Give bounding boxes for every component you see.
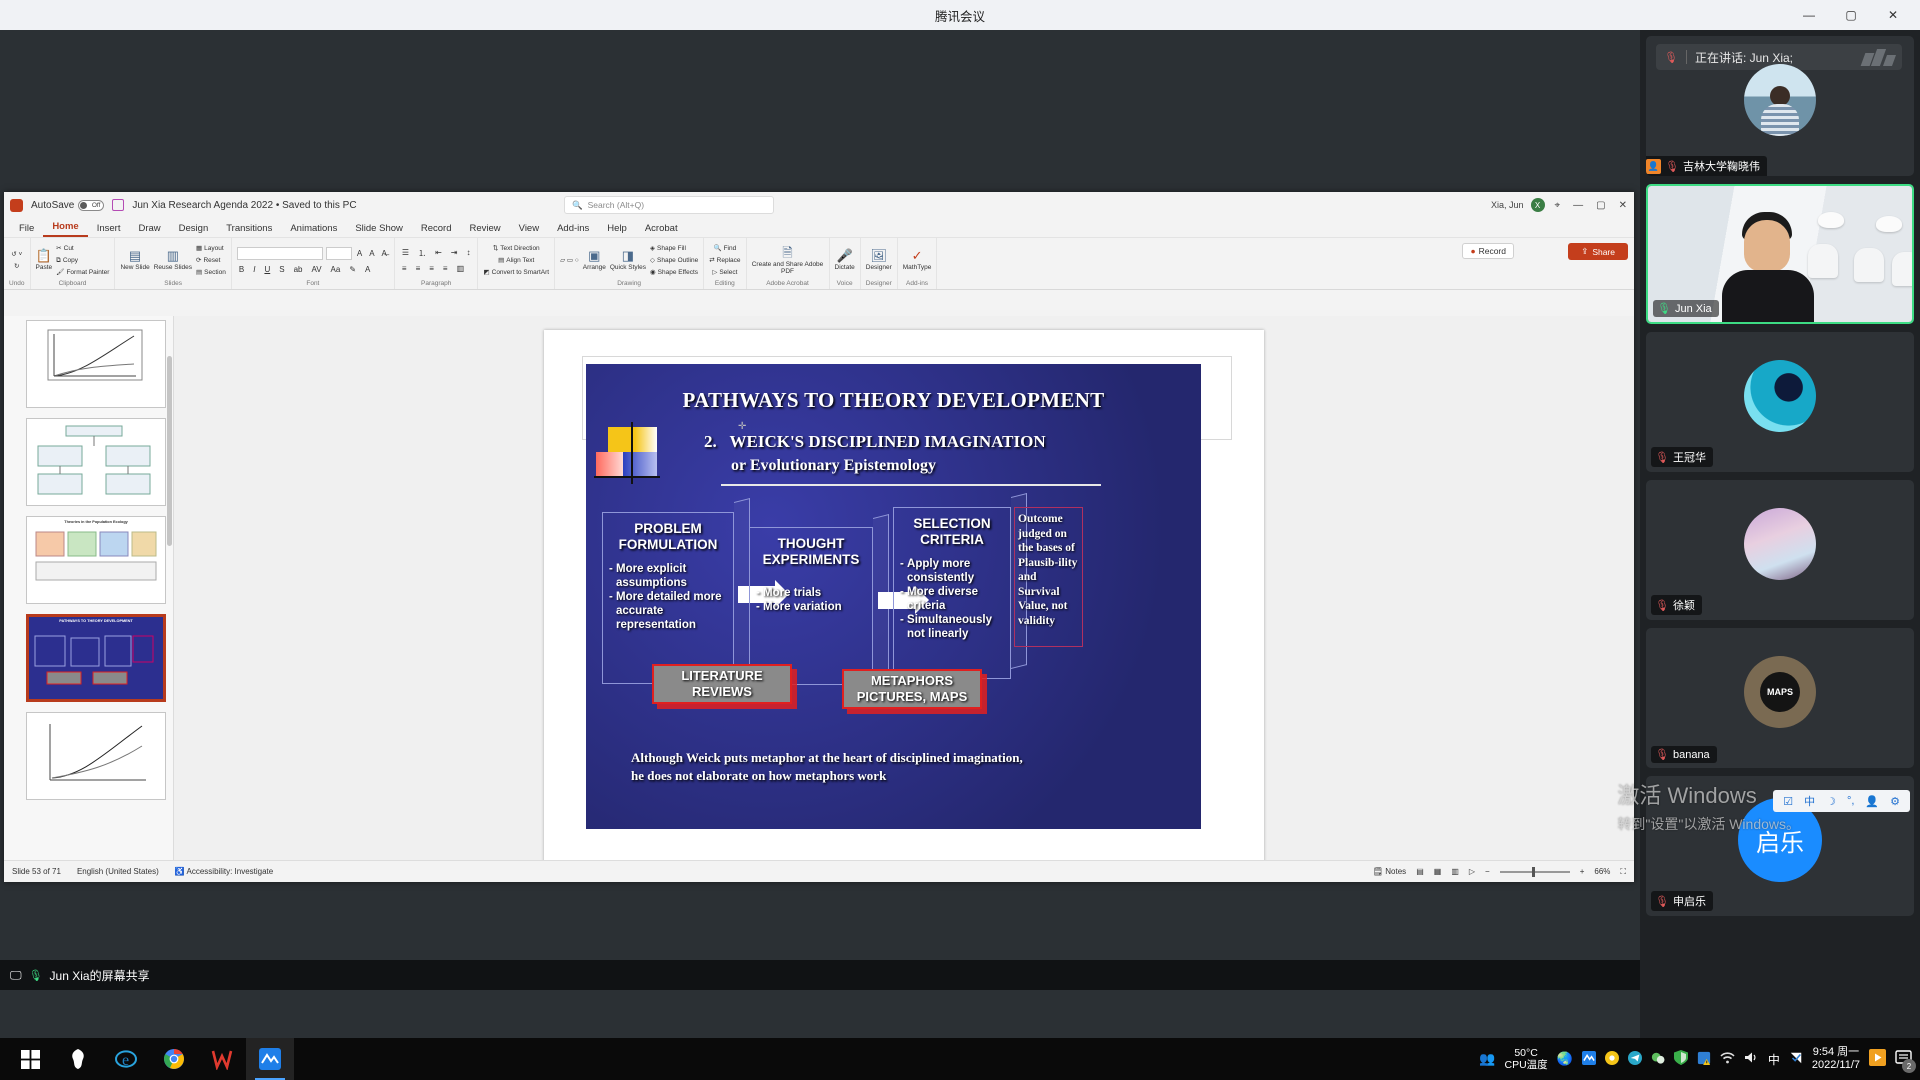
tencent-meeting-window: 腾讯会议 — ▢ ✕ AutoSave Off Jun Xia Research… <box>0 0 1920 1080</box>
bold-button[interactable]: B <box>237 265 246 274</box>
ribbon-group-label: Clipboard <box>59 280 87 288</box>
ribbon-group-paragraph-extra: ⇅ Text Direction ▤ Align Text ◩ Convert … <box>478 238 555 289</box>
align-center-button[interactable]: ≡ <box>414 264 423 273</box>
autosave-switch-icon[interactable]: Off <box>78 200 104 211</box>
decrease-font-size-button[interactable]: A <box>367 249 376 258</box>
volume-icon[interactable] <box>1744 1051 1759 1067</box>
slide-counter[interactable]: Slide 53 of 71 <box>12 867 61 876</box>
thumbnail-preview: PATHWAYS TO THEORY DEVELOPMENT <box>29 617 163 699</box>
arrange-label: Arrange <box>583 264 606 271</box>
powerpoint-logo-icon <box>10 199 23 212</box>
box-bullet-list: - Apply more consistently - More diverse… <box>898 557 1010 641</box>
reset-label: Reset <box>203 255 220 266</box>
lamp-icon <box>1876 216 1902 232</box>
ribbon-group-drawing: ▱ ▭ ○ ▣ Arrange ◨ Quick Styles ◈ Shape F… <box>555 238 704 289</box>
clear-formatting-button[interactable]: A̶ <box>380 249 389 258</box>
ppt-restore-button[interactable]: ▢ <box>1593 200 1608 211</box>
box-heading: SELECTION CRITERIA <box>894 516 1010 548</box>
ime-chinese-indicator[interactable]: 中 <box>1768 1051 1780 1068</box>
align-right-button[interactable]: ≡ <box>427 264 436 273</box>
process-box-selection-criteria: SELECTION CRITERIA - Apply more consiste… <box>893 507 1011 679</box>
zoom-in-button[interactable]: + <box>1580 867 1585 876</box>
decorative-square-blue <box>623 452 657 477</box>
screen-share-label: Jun Xia的屏幕共享 <box>50 967 150 984</box>
ribbon-group-label <box>515 280 517 288</box>
tab-add-ins[interactable]: Add-ins <box>548 221 598 237</box>
bullet-text: More detailed more accurate representati… <box>616 591 721 631</box>
reuse-slides-icon: ▥ <box>167 249 179 263</box>
save-icon[interactable] <box>112 199 124 211</box>
view-slide-sorter-button[interactable]: ▦ <box>1434 867 1442 876</box>
zoom-level[interactable]: 66% <box>1594 867 1610 876</box>
earth-browser-icon[interactable]: 🌏 <box>1557 1051 1573 1067</box>
tab-animations[interactable]: Animations <box>281 221 346 237</box>
tencent-meeting-tray-icon[interactable] <box>1582 1051 1596 1068</box>
record-button[interactable]: ● Record <box>1462 243 1514 259</box>
close-button[interactable]: ✕ <box>1872 0 1914 30</box>
new-slide-label: New Slide <box>120 264 149 271</box>
slide-canvas[interactable]: PATHWAYS TO THEORY DEVELOPMENT ✛ 2. WEIC… <box>174 316 1634 860</box>
view-slideshow-button[interactable]: ▷ <box>1469 867 1475 876</box>
tab-home[interactable]: Home <box>43 219 87 237</box>
process-box-thought-experiments: THOUGHT EXPERIMENTS - More trials - More… <box>749 527 873 685</box>
autosave-label: AutoSave <box>31 200 74 211</box>
box-heading-line2: CRITERIA <box>920 532 984 547</box>
section-button[interactable]: ▤ Section <box>196 267 226 278</box>
process-box-problem-formulation: PROBLEM FORMULATION - More explicit assu… <box>602 512 734 684</box>
avatar[interactable]: X <box>1531 198 1545 212</box>
search-box[interactable]: 🔍 Search (Alt+Q) <box>564 196 774 214</box>
clipboard-icon: 📋 <box>36 249 52 263</box>
ime-settings-gear-icon[interactable]: ⚙ <box>1890 795 1900 808</box>
microphone-muted-icon: 🎙 <box>1664 51 1678 64</box>
designer-label: Designer <box>866 264 892 271</box>
participant-name-badge: 👤 🎙 吉林大学鞠晓伟 <box>1646 156 1767 176</box>
slide-page[interactable]: PATHWAYS TO THEORY DEVELOPMENT ✛ 2. WEIC… <box>544 330 1264 870</box>
notes-label: Notes <box>1385 867 1406 876</box>
reuse-slides-label: Reuse Slides <box>154 264 192 271</box>
section-label: Section <box>204 267 226 278</box>
powerpoint-window: AutoSave Off Jun Xia Research Agenda 202… <box>4 192 1634 882</box>
zoom-out-button[interactable]: − <box>1485 867 1490 876</box>
thumbnail-preview <box>27 419 165 505</box>
participant-name: 吉林大学鞠晓伟 <box>1683 158 1760 174</box>
person-body <box>1722 270 1814 324</box>
text-direction-button[interactable]: ⇅ Text Direction <box>493 243 540 254</box>
windows-defender-icon[interactable] <box>1789 1051 1803 1068</box>
microphone-icon: 🎤 <box>837 249 853 263</box>
minimize-button[interactable]: — <box>1788 0 1830 30</box>
dictate-label: Dictate <box>835 264 855 271</box>
start-button[interactable] <box>6 1038 54 1080</box>
bullet-text: More trials <box>763 587 821 599</box>
avatar <box>1744 64 1816 136</box>
bullet-text: More diverse criteria <box>907 586 978 612</box>
designer-icon: 🖼 <box>871 249 888 263</box>
ribbon-group-label: Slides <box>164 280 182 288</box>
lamp-icon <box>1818 212 1844 228</box>
box-heading-line1: SELECTION <box>913 516 990 531</box>
replace-button[interactable]: ⇄ Replace <box>709 255 740 266</box>
search-icon: 🔍 <box>572 200 583 211</box>
tab-insert[interactable]: Insert <box>88 221 130 237</box>
cut-label: Cut <box>64 243 74 254</box>
cut-button[interactable]: ✂ Cut <box>56 243 109 254</box>
align-text-button[interactable]: ▤ Align Text <box>498 255 534 266</box>
arrange-icon: ▣ <box>588 249 600 263</box>
reuse-slides-button[interactable]: ▥ Reuse Slides <box>154 249 192 271</box>
shape-fill-label: Shape Fill <box>657 243 686 254</box>
mathtype-icon: ✓ <box>912 249 923 263</box>
person-head <box>1744 220 1790 272</box>
status-bar-right: 🗒 Notes ▤ ▦ ▥ ▷ − + 66% ⛶ <box>1373 867 1626 877</box>
quick-styles-button[interactable]: ◨ Quick Styles <box>610 249 646 271</box>
taskbar-app-wps-office[interactable] <box>198 1038 246 1080</box>
pdf-icon: 🗎 <box>782 246 792 260</box>
reset-button[interactable]: ⟳ Reset <box>196 255 226 266</box>
bullets-button[interactable]: ☰ <box>400 248 411 259</box>
tab-file[interactable]: File <box>10 221 43 237</box>
shape-effects-button[interactable]: ◉ Shape Effects <box>650 267 698 278</box>
participant-tile-wang-guanhua[interactable]: 🎙 王冠华 <box>1646 332 1914 472</box>
participant-tile-jun-xia[interactable]: 🎙 Jun Xia <box>1646 184 1914 324</box>
align-text-label: Align Text <box>506 255 534 266</box>
notification-count: 2 <box>1902 1059 1916 1073</box>
document-title[interactable]: Jun Xia Research Agenda 2022 • Saved to … <box>132 200 356 211</box>
taskbar-clock[interactable]: 9:54 周一 2022/11/7 <box>1812 1046 1860 1072</box>
view-normal-button[interactable]: ▤ <box>1416 867 1424 876</box>
search-placeholder: Search (Alt+Q) <box>588 200 644 210</box>
taskbar-app-internet-explorer[interactable]: e <box>102 1038 150 1080</box>
warning-icon[interactable] <box>1697 1051 1711 1068</box>
accessibility-icon: ♿ <box>175 867 185 876</box>
microphone-muted-icon: 🎙 <box>1665 160 1679 173</box>
cpu-temperature-widget[interactable]: 50°C CPU温度 <box>1505 1047 1548 1071</box>
find-label: Find <box>724 243 737 254</box>
microphone-muted-icon: 🎙 <box>1655 451 1669 464</box>
taskbar-app-google-chrome[interactable] <box>150 1038 198 1080</box>
list-item[interactable]: 53 PATHWAYS TO THEORY DEVELOPMENT <box>26 614 166 702</box>
slide-subtitle-line1: 2. WEICK'S DISCIPLINED IMAGINATION <box>704 432 1046 452</box>
participant-name: Jun Xia <box>1675 303 1712 315</box>
format-painter-button[interactable]: 🖌 Format Painter <box>56 267 109 278</box>
decorative-square-yellow-fade <box>635 427 657 453</box>
ribbon-group-label: Designer <box>866 280 892 288</box>
numbering-button[interactable]: ⒈ <box>416 248 428 259</box>
create-share-pdf-button[interactable]: 🗎 Create and Share Adobe PDF <box>752 246 824 275</box>
tab-design[interactable]: Design <box>170 221 218 237</box>
participant-name: 徐颖 <box>1673 597 1695 613</box>
ribbon-display-options-icon[interactable]: ⌖ <box>1552 200 1564 211</box>
ime-logo-icon[interactable]: ☑ <box>1783 795 1793 808</box>
participant-tile-banana[interactable]: 🎙 banana <box>1646 628 1914 768</box>
decrease-indent-button[interactable]: ⇤ <box>433 248 444 259</box>
screen-share-icon: 🖵 <box>10 968 22 983</box>
taskbar-apps: e <box>0 1038 294 1080</box>
list-item[interactable]: 51 <box>26 418 166 506</box>
font-name-input[interactable] <box>237 247 323 260</box>
ribbon: ↺ ˅ ↻ Undo 📋 Paste ✂ Cut ⧉ Copy <box>4 238 1634 290</box>
shape-outline-label: Shape Outline <box>657 255 698 266</box>
ime-toolbar[interactable]: ☑ 中 ☽ °, 👤 ⚙ <box>1773 790 1910 812</box>
avatar <box>1744 656 1816 728</box>
increase-font-size-button[interactable]: A <box>355 249 364 258</box>
svg-text:e: e <box>122 1052 129 1069</box>
telegram-icon[interactable] <box>1628 1051 1642 1068</box>
360-shield-icon[interactable] <box>1605 1051 1619 1068</box>
list-item: - More trials <box>754 586 872 600</box>
ribbon-group-label: Undo <box>9 280 25 288</box>
text-shadow-button[interactable]: S <box>277 265 286 274</box>
taskbar-app-sogou-browser[interactable] <box>54 1038 102 1080</box>
redo-button[interactable]: ↻ <box>14 261 19 272</box>
share-label: Share <box>1592 247 1615 257</box>
ribbon-group-voice: 🎤 Dictate Voice <box>830 238 861 289</box>
host-icon: 👤 <box>1646 159 1661 174</box>
microphone-on-icon: 🎙 <box>1657 302 1671 315</box>
autosave-state: Off <box>92 202 101 209</box>
copy-label: Copy <box>63 255 78 266</box>
ribbon-group-clipboard: 📋 Paste ✂ Cut ⧉ Copy 🖌 Format Painter Cl… <box>31 238 116 289</box>
layout-label: Layout <box>204 243 224 254</box>
wechat-icon[interactable] <box>1651 1051 1665 1068</box>
ribbon-group-label: Adobe Acrobat <box>766 280 809 288</box>
participant-tile-xu-ying[interactable]: 🎙 徐颖 <box>1646 480 1914 620</box>
share-button[interactable]: ⇪ Share <box>1568 243 1628 260</box>
undo-button[interactable]: ↺ ˅ <box>11 249 22 260</box>
box-bullet-list: - More explicit assumptions - More detai… <box>607 562 733 632</box>
participant-tile-host[interactable]: 🎙 正在讲话: Jun Xia; 👤 🎙 吉林大学鞠晓伟 <box>1646 36 1914 176</box>
bullet-text: More explicit assumptions <box>616 563 687 589</box>
box-heading: THOUGHT EXPERIMENTS <box>750 536 872 568</box>
account-name[interactable]: Xia, Jun <box>1491 200 1524 210</box>
list-item: - Simultaneously not linearly <box>898 613 1010 641</box>
columns-button[interactable]: ▥ <box>455 264 467 273</box>
ribbon-group-label: Voice <box>837 280 853 288</box>
decorative-line-vertical <box>631 422 633 484</box>
microphone-muted-icon: 🎙 <box>1655 895 1669 908</box>
callout-metaphors: METAPHORS PICTURES, MAPS <box>842 669 982 709</box>
ribbon-group-editing: 🔍 Find ⇄ Replace ▷ Select Editing <box>704 238 746 289</box>
tab-transitions[interactable]: Transitions <box>217 221 281 237</box>
list-item: - More variation <box>754 600 872 614</box>
security-shield-icon[interactable] <box>1674 1050 1688 1068</box>
text-highlight-button[interactable]: ✎ <box>347 265 358 274</box>
strikethrough-button[interactable]: ab <box>292 265 305 274</box>
tab-acrobat[interactable]: Acrobat <box>636 221 687 237</box>
screen-share-status-strip: 🖵 🎙 Jun Xia的屏幕共享 <box>0 960 1640 990</box>
box-heading: PROBLEM FORMULATION <box>603 521 733 553</box>
ribbon-group-designer: 🖼 Designer Designer <box>861 238 898 289</box>
ribbon-group-label: Paragraph <box>421 280 451 288</box>
chair-icon <box>1892 252 1914 286</box>
shape-gallery[interactable]: ▱ ▭ ○ <box>560 255 579 266</box>
quick-styles-icon: ◨ <box>622 249 634 263</box>
meet-now-people-icon[interactable]: 👥 <box>1479 1051 1495 1067</box>
list-item[interactable]: 54 <box>26 712 166 800</box>
activation-line2: 转到"设置"以激活 Windows。 <box>1617 814 1800 834</box>
participant-sidebar[interactable]: 🎙 正在讲话: Jun Xia; 👤 🎙 吉林大学鞠晓伟 <box>1640 30 1920 1080</box>
meeting-app-title: 腾讯会议 <box>935 6 985 25</box>
ime-moon-icon[interactable]: ☽ <box>1826 795 1836 808</box>
thumbnail-preview <box>27 713 165 799</box>
participant-name: 申启乐 <box>1673 893 1706 909</box>
titlebar-right-controls: Xia, Jun X ⌖ — ▢ ✕ <box>1491 192 1630 218</box>
replace-label: Replace <box>717 255 741 266</box>
new-slide-icon: ▤ <box>129 249 141 263</box>
participant-name-badge: 🎙 申启乐 <box>1651 891 1713 911</box>
ppt-close-button[interactable]: ✕ <box>1616 200 1630 211</box>
tab-record[interactable]: Record <box>412 221 461 237</box>
media-player-icon[interactable] <box>1869 1049 1886 1069</box>
tab-help[interactable]: Help <box>598 221 636 237</box>
italic-button[interactable]: I <box>251 265 257 274</box>
copy-button[interactable]: ⧉ Copy <box>56 255 109 266</box>
powerpoint-body: 50 <box>4 316 1634 860</box>
view-reading-button[interactable]: ▥ <box>1451 867 1459 876</box>
notification-center-button[interactable]: 2 <box>1895 1049 1912 1069</box>
active-speaker-text: 正在讲话: Jun Xia; <box>1695 49 1793 66</box>
ribbon-group-label: Add-ins <box>906 280 928 288</box>
thumbnail-scrollbar[interactable] <box>167 356 172 546</box>
mouse-cursor-icon: ✛ <box>738 421 746 432</box>
increase-indent-button[interactable]: ⇥ <box>449 248 460 259</box>
powerpoint-status-bar: Slide 53 of 71 English (United States) ♿… <box>4 860 1634 882</box>
ribbon-group-slides: ▤ New Slide ▥ Reuse Slides ▦ Layout ⟳ Re… <box>115 238 231 289</box>
box-heading-line1: THOUGHT <box>778 536 845 551</box>
create-share-pdf-label: Create and Share Adobe PDF <box>752 261 824 275</box>
microphone-muted-icon: 🎙 <box>1655 599 1669 612</box>
tab-draw[interactable]: Draw <box>129 221 169 237</box>
box-heading-line2: EXPERIMENTS <box>763 552 860 567</box>
layout-switch-icon[interactable] <box>1863 49 1894 66</box>
list-item[interactable]: 50 <box>26 320 166 408</box>
ribbon-group-label: Editing <box>715 280 735 288</box>
footer-line1: Although Weick puts metaphor at the hear… <box>631 750 1023 765</box>
decorative-line-horizontal <box>594 476 660 478</box>
maximize-button[interactable]: ▢ <box>1830 0 1872 30</box>
ribbon-group-font: A A A̶ B I U S ab AV Aa ✎ <box>232 238 395 289</box>
ime-user-icon[interactable]: 👤 <box>1865 795 1879 808</box>
clock-time: 9:54 周一 <box>1812 1046 1860 1059</box>
line-spacing-button[interactable]: ↕ <box>464 248 472 259</box>
dictate-button[interactable]: 🎤 Dictate <box>835 249 855 271</box>
shape-outline-button[interactable]: ◇ Shape Outline <box>650 255 698 266</box>
box-heading-line1: PROBLEM <box>634 521 702 536</box>
smartart-label: Convert to SmartArt <box>492 267 549 278</box>
zoom-slider[interactable] <box>1500 871 1570 873</box>
shape-fill-button[interactable]: ◈ Shape Fill <box>650 243 698 254</box>
list-item: - More explicit assumptions <box>607 562 733 590</box>
bullet-text: Apply more consistently <box>907 558 974 584</box>
justify-button[interactable]: ≡ <box>441 264 450 273</box>
cpu-temp-label: CPU温度 <box>1505 1059 1548 1071</box>
bullet-text: More variation <box>763 601 842 613</box>
slide-footer-text: Although Weick puts metaphor at the hear… <box>631 749 1161 785</box>
ribbon-group-undo: ↺ ˅ ↻ Undo <box>4 238 31 289</box>
find-button[interactable]: 🔍 Find <box>713 243 736 254</box>
ime-chinese-mode-icon[interactable]: 中 <box>1804 793 1815 809</box>
tab-view[interactable]: View <box>510 221 548 237</box>
mathtype-button[interactable]: ✓ MathType <box>903 249 932 271</box>
ribbon-tabs: File Home Insert Draw Design Transitions… <box>4 218 1634 238</box>
accessibility-indicator[interactable]: ♿ Accessibility: Investigate <box>175 867 273 876</box>
tab-review[interactable]: Review <box>461 221 510 237</box>
layout-button[interactable]: ▦ Layout <box>196 243 226 254</box>
paste-button[interactable]: 📋 Paste <box>36 249 53 271</box>
paste-label: Paste <box>36 264 53 271</box>
participant-name-badge: 🎙 Jun Xia <box>1653 300 1719 317</box>
windows-taskbar: e 👥 50°C <box>0 1038 1920 1080</box>
thumbnail-preview: Theories in the Population Ecology <box>27 517 165 603</box>
shared-screen-area: AutoSave Off Jun Xia Research Agenda 202… <box>0 30 1640 1020</box>
participant-name-badge: 🎙 徐颖 <box>1651 595 1702 615</box>
ribbon-group-adobe-acrobat: 🗎 Create and Share Adobe PDF Adobe Acrob… <box>747 238 830 289</box>
bullet-text: Simultaneously not linearly <box>907 614 992 640</box>
mathtype-label: MathType <box>903 264 932 271</box>
thumbnail-caption: Theories in the Population Ecology <box>30 520 162 525</box>
subtitle-text: WEICK'S DISCIPLINED IMAGINATION <box>730 432 1046 451</box>
avatar <box>1744 508 1816 580</box>
ribbon-group-paragraph: ☰ ⒈ ⇤ ⇥ ↕ ≡ ≡ ≡ ≡ ▥ <box>395 238 479 289</box>
powerpoint-titlebar: AutoSave Off Jun Xia Research Agenda 202… <box>4 192 1634 218</box>
fit-to-window-button[interactable]: ⛶ <box>1620 867 1626 877</box>
footer-line2: he does not elaborate on how metaphors w… <box>631 768 886 783</box>
designer-button[interactable]: 🖼 Designer <box>866 249 892 271</box>
list-item: - Apply more consistently <box>898 557 1010 585</box>
wifi-icon[interactable] <box>1720 1051 1735 1067</box>
slide-thumbnail-pane[interactable]: 50 <box>4 316 174 860</box>
align-left-button[interactable]: ≡ <box>400 264 409 273</box>
font-size-input[interactable] <box>326 247 352 260</box>
callout-line2: PICTURES, MAPS <box>857 689 968 704</box>
notes-button[interactable]: 🗒 Notes <box>1373 867 1406 876</box>
select-button[interactable]: ▷ Select <box>712 267 737 278</box>
ribbon-group-label: Drawing <box>617 280 641 288</box>
ppt-minimize-button[interactable]: — <box>1570 200 1586 211</box>
arrange-button[interactable]: ▣ Arrange <box>583 249 606 271</box>
thumbnail-caption: PATHWAYS TO THEORY DEVELOPMENT <box>31 619 161 624</box>
select-label: Select <box>719 267 737 278</box>
subtitle-number: 2. <box>704 432 717 451</box>
list-item[interactable]: 52 Theories in the Population Ecology <box>26 516 166 604</box>
participant-name: banana <box>1673 749 1710 761</box>
microphone-muted-icon: 🎙 <box>1655 748 1669 761</box>
callout-line1: METAPHORS <box>871 673 953 688</box>
chair-icon <box>1854 248 1884 282</box>
tab-slide-show[interactable]: Slide Show <box>346 221 412 237</box>
thumbnail-preview <box>27 321 165 407</box>
avatar <box>1744 360 1816 432</box>
participant-name: 王冠华 <box>1673 449 1706 465</box>
new-slide-button[interactable]: ▤ New Slide <box>120 249 149 271</box>
ime-punctuation-icon[interactable]: °, <box>1847 795 1854 807</box>
font-color-button[interactable]: A <box>363 265 372 274</box>
list-item: - More diverse criteria <box>898 585 1010 613</box>
taskbar-app-tencent-meeting[interactable] <box>246 1038 294 1080</box>
character-spacing-button[interactable]: AV <box>309 265 323 274</box>
change-case-button[interactable]: Aa <box>329 265 343 274</box>
autosave-toggle[interactable]: AutoSave Off <box>31 200 104 211</box>
slide-content: PATHWAYS TO THEORY DEVELOPMENT ✛ 2. WEIC… <box>586 364 1201 829</box>
box-heading-line2: FORMULATION <box>619 537 718 552</box>
list-item: - More detailed more accurate representa… <box>607 590 733 632</box>
language-indicator[interactable]: English (United States) <box>77 867 159 876</box>
underline-button[interactable]: U <box>262 265 272 274</box>
clock-date: 2022/11/7 <box>1812 1059 1860 1072</box>
slide-title: PATHWAYS TO THEORY DEVELOPMENT <box>586 388 1201 413</box>
convert-smartart-button[interactable]: ◩ Convert to SmartArt <box>483 267 549 278</box>
